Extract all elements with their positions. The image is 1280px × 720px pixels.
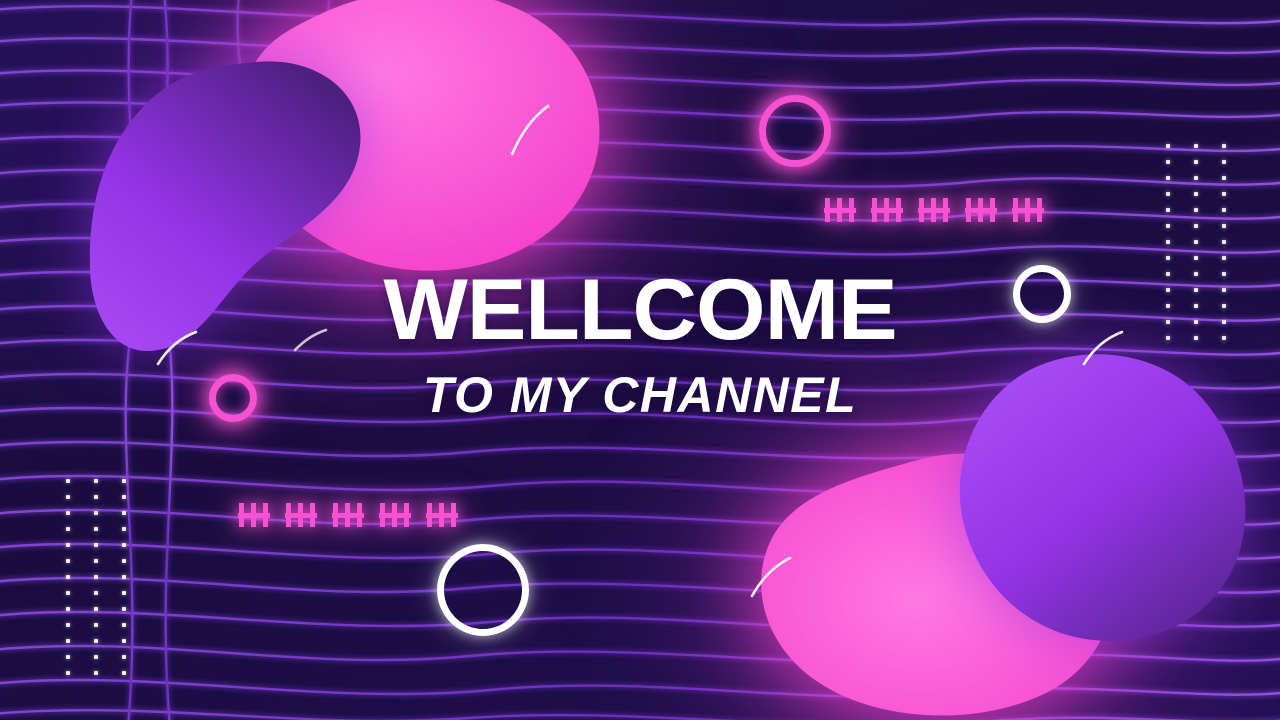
grid-dot	[1166, 192, 1170, 196]
arc-stroke-upper-mid	[512, 106, 548, 154]
grid-dot	[122, 607, 126, 611]
grid-dot	[1166, 208, 1170, 212]
tally-group	[918, 198, 950, 222]
tally-marks-bottom-left	[238, 503, 458, 527]
tally-marks-top-right	[824, 198, 1044, 222]
grid-dot	[122, 479, 126, 483]
grid-dot	[1194, 192, 1198, 196]
grid-dot	[122, 495, 126, 499]
grid-dot	[122, 655, 126, 659]
grid-dot	[66, 591, 70, 595]
tally-group	[965, 198, 997, 222]
tally-group	[824, 198, 856, 222]
grid-dot	[1166, 176, 1170, 180]
tally-group	[238, 503, 270, 527]
page-subtitle: TO MY CHANNEL	[0, 366, 1280, 424]
grid-dot	[66, 543, 70, 547]
tally-group	[871, 198, 903, 222]
grid-dot	[66, 479, 70, 483]
welcome-banner: WELLCOME TO MY CHANNEL	[0, 0, 1280, 720]
grid-dot	[66, 607, 70, 611]
grid-dot	[1222, 144, 1226, 148]
grid-dot	[66, 495, 70, 499]
grid-dot	[94, 527, 98, 531]
tally-group	[1012, 198, 1044, 222]
grid-dot	[94, 543, 98, 547]
grid-dot	[66, 639, 70, 643]
grid-dot	[122, 511, 126, 515]
grid-dot	[1222, 224, 1226, 228]
tally-group	[285, 503, 317, 527]
grid-dot	[1194, 144, 1198, 148]
grid-dot	[66, 511, 70, 515]
grid-dot	[66, 671, 70, 675]
ring-white-bottom	[437, 544, 529, 636]
grid-dot	[1166, 256, 1170, 260]
grid-dot	[1194, 240, 1198, 244]
grid-dot	[94, 575, 98, 579]
grid-dot	[122, 575, 126, 579]
grid-dot	[94, 623, 98, 627]
grid-dot	[1166, 144, 1170, 148]
grid-dot	[122, 543, 126, 547]
grid-dot	[122, 559, 126, 563]
grid-dot	[122, 671, 126, 675]
grid-dot	[66, 527, 70, 531]
grid-dot	[1194, 176, 1198, 180]
grid-dot	[122, 591, 126, 595]
grid-dot	[1194, 224, 1198, 228]
grid-dot	[1222, 256, 1226, 260]
tally-group	[332, 503, 364, 527]
grid-dot	[94, 639, 98, 643]
grid-dot	[1194, 160, 1198, 164]
grid-dot	[94, 495, 98, 499]
grid-dot	[66, 655, 70, 659]
grid-dot	[1166, 160, 1170, 164]
grid-dot	[66, 623, 70, 627]
grid-dot	[1222, 208, 1226, 212]
grid-dot	[1222, 160, 1226, 164]
grid-dot	[94, 559, 98, 563]
grid-dot	[94, 671, 98, 675]
tally-group	[426, 503, 458, 527]
page-title: WELLCOME	[0, 268, 1280, 352]
grid-dot	[1222, 192, 1226, 196]
grid-dot	[122, 527, 126, 531]
grid-dot	[94, 511, 98, 515]
grid-dot	[1166, 240, 1170, 244]
grid-dot	[1222, 176, 1226, 180]
grid-dot	[1166, 224, 1170, 228]
tally-group	[379, 503, 411, 527]
grid-dot	[94, 655, 98, 659]
grid-dot	[66, 575, 70, 579]
grid-dot	[1222, 240, 1226, 244]
arc-stroke-bottom-mid	[752, 558, 790, 596]
grid-dot	[122, 639, 126, 643]
headline-block: WELLCOME TO MY CHANNEL	[0, 268, 1280, 424]
grid-dot	[94, 607, 98, 611]
grid-dot	[122, 623, 126, 627]
grid-dot	[1194, 256, 1198, 260]
grid-dot	[94, 591, 98, 595]
grid-dot	[1194, 208, 1198, 212]
ring-pink-top-right	[759, 95, 831, 167]
grid-dot	[66, 559, 70, 563]
dot-grid-left	[66, 479, 126, 675]
grid-dot	[94, 479, 98, 483]
